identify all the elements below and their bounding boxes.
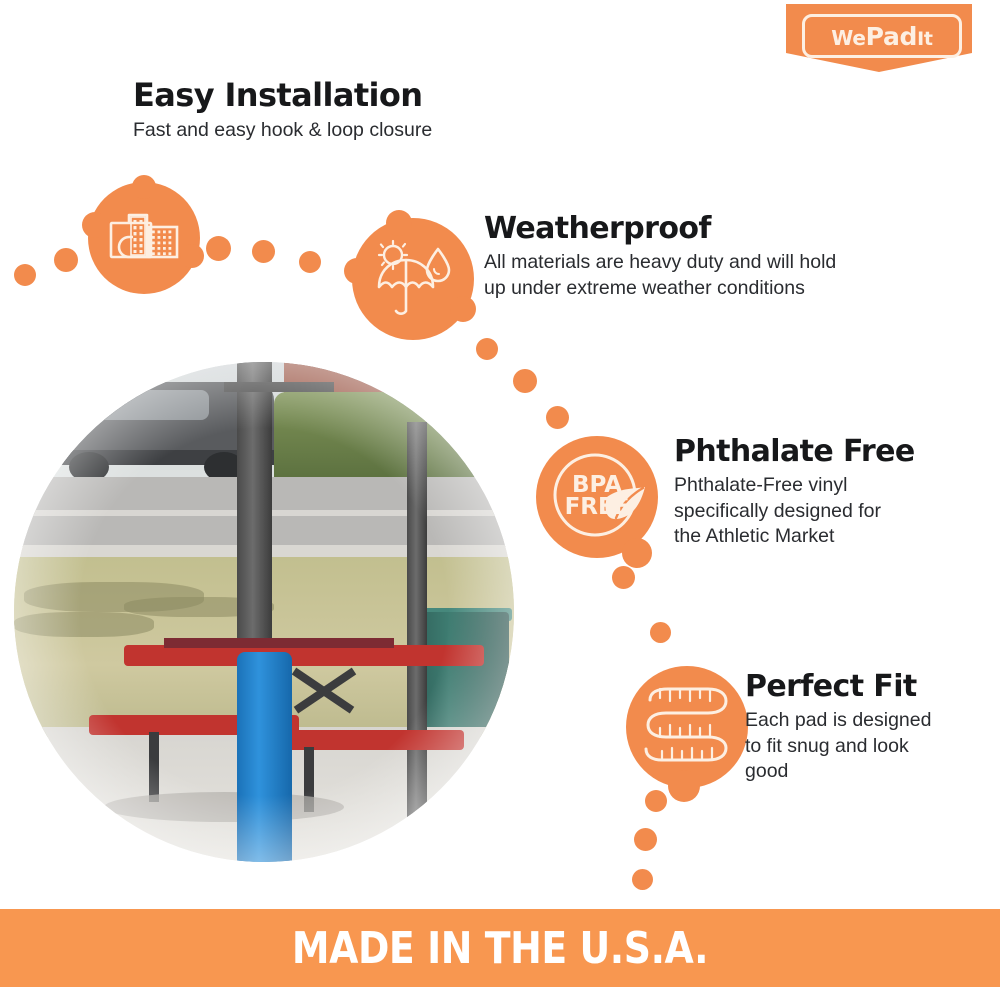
trail-dot — [546, 406, 569, 429]
badge-bump — [450, 296, 476, 322]
trail-dot — [252, 240, 275, 263]
trail-dot — [645, 790, 667, 812]
made-in-usa-banner: MADE IN THE U.S.A. — [0, 909, 1000, 987]
trail-dot — [650, 622, 671, 643]
trail-dot — [634, 828, 657, 851]
logo-text-pad: Pad — [866, 22, 918, 51]
feature-easy-installation: Easy Installation Fast and easy hook & l… — [133, 78, 563, 144]
feature-body-line: Phthalate-Free vinyl — [674, 473, 974, 499]
logo-text-it: It — [917, 28, 933, 50]
feature-body: Phthalate-Free vinyl specifically design… — [674, 473, 974, 551]
feature-body: All materials are heavy duty and will ho… — [484, 250, 914, 302]
feature-body-line: All materials are heavy duty and will ho… — [484, 250, 914, 276]
badge-bump — [386, 210, 412, 236]
made-in-usa-text: MADE IN THE U.S.A. — [292, 923, 708, 974]
trail-dot — [14, 264, 36, 286]
logo-text-we: We — [831, 26, 865, 50]
badge-bump — [132, 175, 156, 199]
brand-logo[interactable]: WePadIt — [786, 4, 972, 72]
measuring-tape-icon — [626, 666, 748, 788]
feature-phthalate-free: Phthalate Free Phthalate-Free vinyl spec… — [674, 435, 974, 550]
badge-bump — [344, 258, 370, 284]
bpa-free-leaf-icon: BPA FREE — [536, 436, 658, 558]
feature-body-line: Fast and easy hook & loop closure — [133, 118, 563, 144]
feature-body-line: to fit snug and look — [745, 734, 985, 760]
feature-body-line: Each pad is designed — [745, 708, 985, 734]
umbrella-sun-raindrop-icon — [352, 218, 474, 340]
product-photo — [14, 362, 514, 862]
feature-perfect-fit: Perfect Fit Each pad is designed to fit … — [745, 670, 985, 785]
logo-outline-box: WePadIt — [802, 14, 962, 58]
feature-body-line: up under extreme weather conditions — [484, 276, 914, 302]
trail-dot — [299, 251, 321, 273]
feature-body-line: good — [745, 759, 985, 785]
badge-bump — [180, 244, 204, 268]
feature-weatherproof: Weatherproof All materials are heavy dut… — [484, 212, 914, 301]
trail-dot — [612, 566, 635, 589]
feature-title: Perfect Fit — [745, 670, 985, 704]
hook-and-loop-closure-icon — [88, 182, 200, 294]
trail-dot — [54, 248, 78, 272]
trail-dot — [476, 338, 498, 360]
logo-wordmark: WePadIt — [831, 24, 932, 49]
trail-dot — [513, 369, 537, 393]
badge-bump — [82, 212, 108, 238]
infographic-canvas: WePadIt — [0, 0, 1000, 987]
trail-dot — [632, 869, 653, 890]
feature-title: Weatherproof — [484, 212, 914, 246]
feature-body-line: specifically designed for — [674, 499, 974, 525]
feature-title: Easy Installation — [133, 78, 563, 114]
feature-body-line: the Athletic Market — [674, 524, 974, 550]
trail-dot — [206, 236, 231, 261]
badge-bump — [668, 770, 700, 802]
feature-title: Phthalate Free — [674, 435, 974, 469]
feature-body: Fast and easy hook & loop closure — [133, 118, 563, 144]
photo-edge-fade — [14, 362, 514, 862]
feature-body: Each pad is designed to fit snug and loo… — [745, 708, 985, 786]
